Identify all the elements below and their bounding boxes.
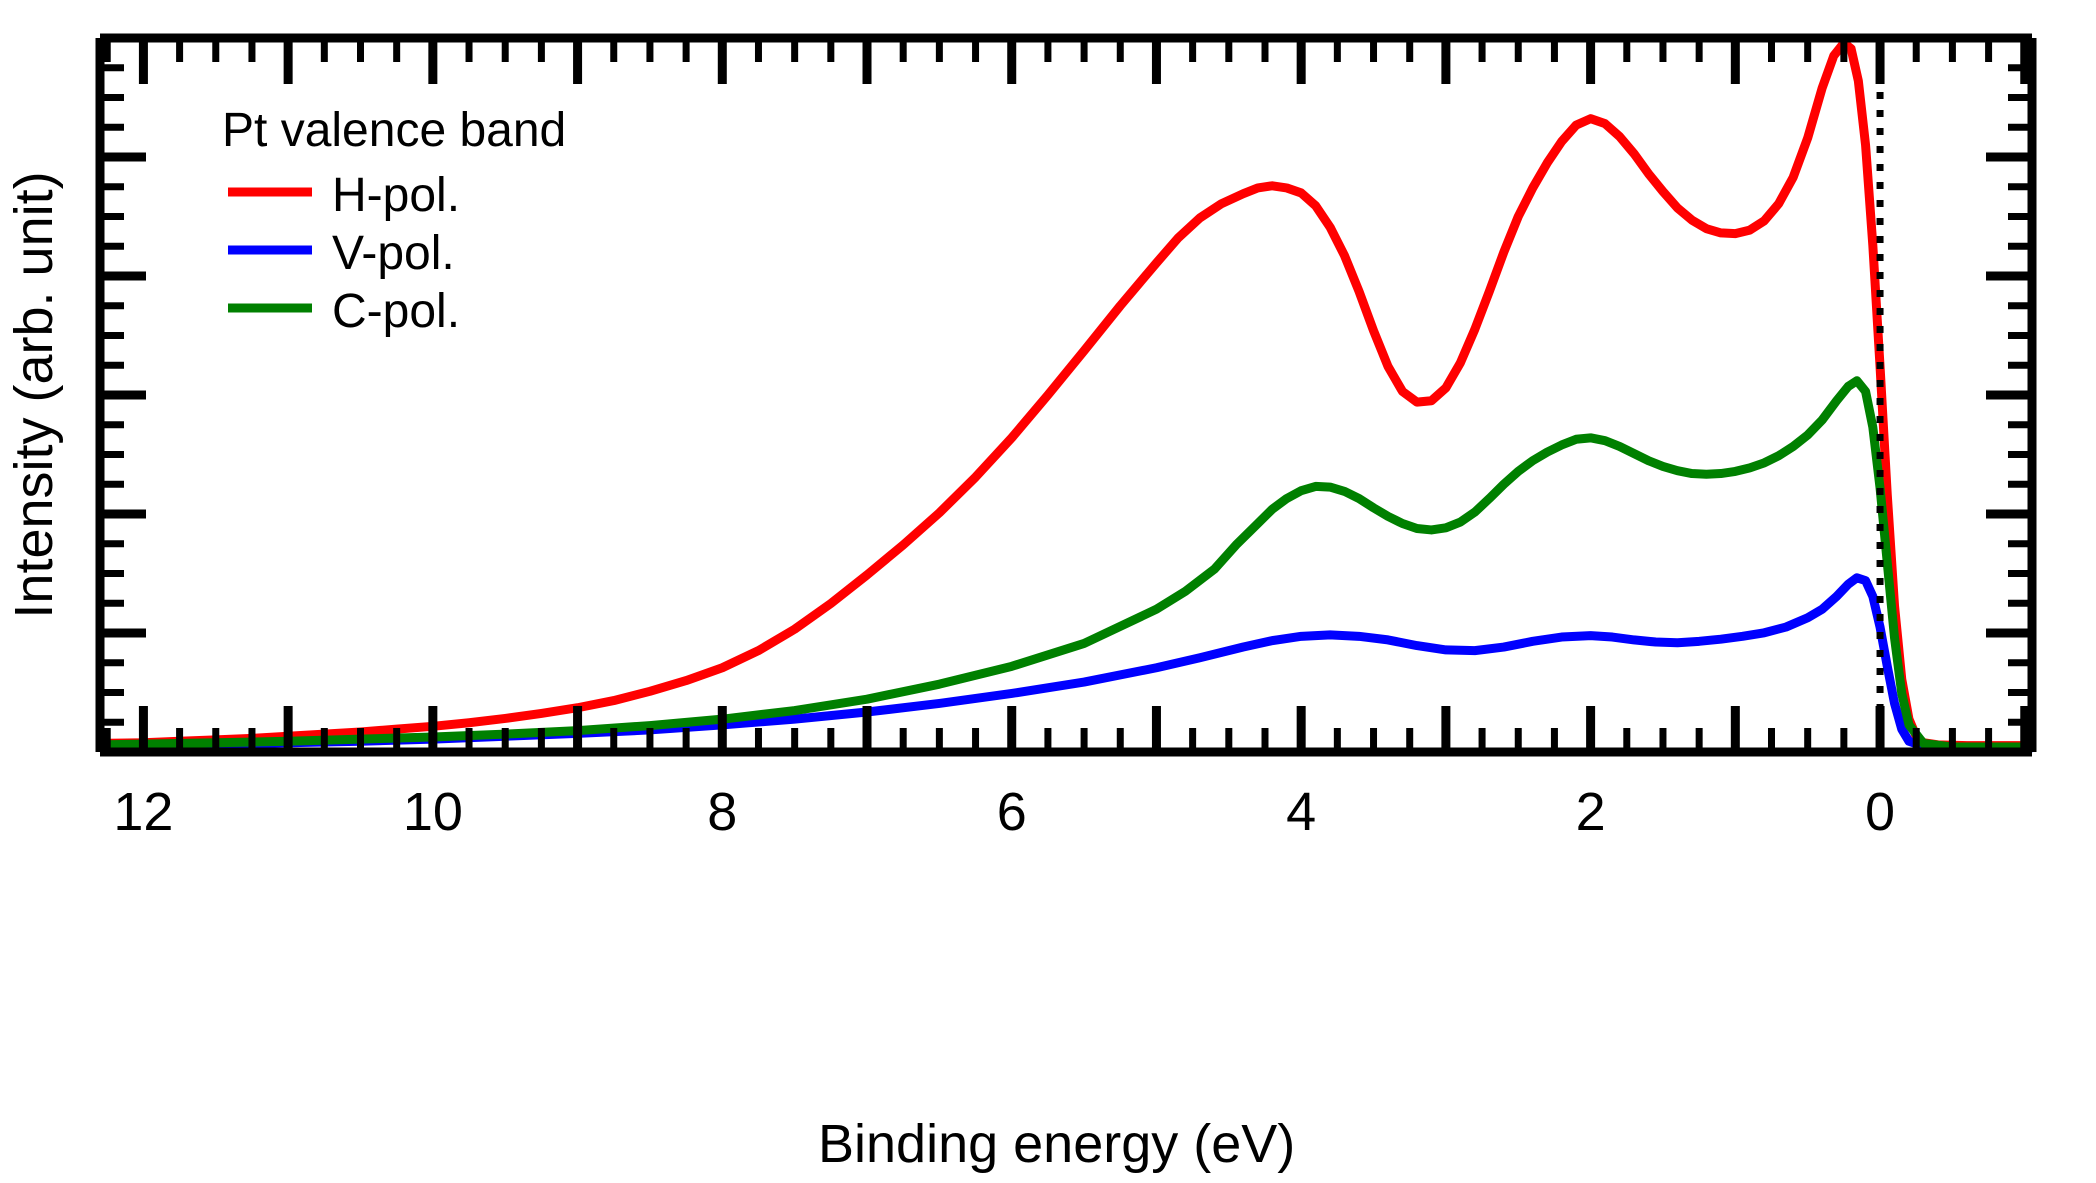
legend-label-h-pol: H-pol. [332, 169, 460, 222]
x-tick-label: 6 [997, 782, 1027, 842]
x-axis-title: Binding energy (eV) [818, 1114, 1295, 1174]
x-tick-label: 12 [113, 782, 173, 842]
x-tick-label: 10 [403, 782, 463, 842]
y-axis-title: Intensity (arb. unit) [4, 171, 64, 618]
spectrum-plot: 121086420 Binding energy (eV) Intensity … [0, 0, 2096, 1183]
x-tick-label: 0 [1865, 782, 1895, 842]
x-tick-label: 8 [707, 782, 737, 842]
figure-root: 121086420 Binding energy (eV) Intensity … [0, 0, 2096, 1183]
legend-label-v-pol: V-pol. [332, 227, 455, 280]
figure-background [0, 0, 2096, 1183]
legend-label-c-pol: C-pol. [332, 285, 460, 338]
x-tick-label: 2 [1576, 782, 1606, 842]
legend-title: Pt valence band [222, 104, 566, 157]
x-tick-label: 4 [1286, 782, 1316, 842]
